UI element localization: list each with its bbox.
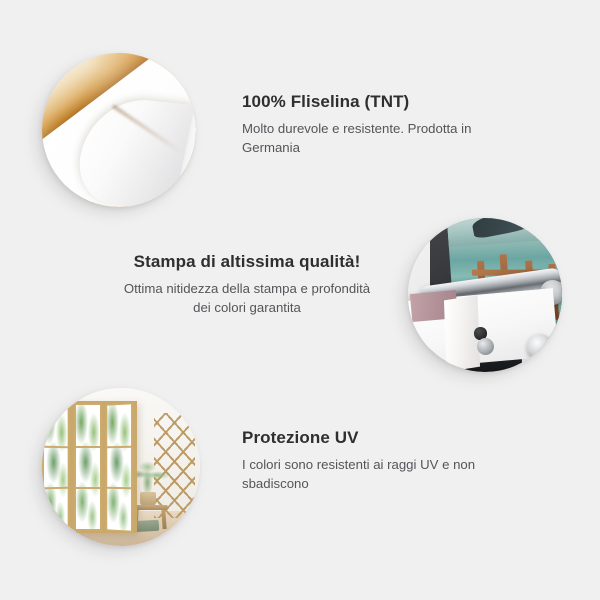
feature-text-fliselina: 100% Fliselina (TNT) Molto durevole e re… xyxy=(242,92,532,157)
feature-body-uv: I colori sono resistenti ai raggi UV e n… xyxy=(242,456,532,493)
feature-text-uv: Protezione UV I colori sono resistenti a… xyxy=(242,428,532,493)
tropical-room-scene xyxy=(42,388,200,546)
feature-image-uv xyxy=(42,388,200,546)
feature-image-stampa xyxy=(408,218,562,372)
screen-panel xyxy=(74,403,102,532)
screen-panel xyxy=(105,402,133,532)
folding-screen xyxy=(42,401,137,534)
peeling-wallpaper-scene xyxy=(42,53,196,207)
feature-highlights-panel: 100% Fliselina (TNT) Molto durevole e re… xyxy=(0,0,600,600)
feature-text-stampa: Stampa di altissima qualità! Ottima niti… xyxy=(118,252,376,317)
printing-press-scene xyxy=(408,218,562,372)
feature-heading-stampa: Stampa di altissima qualità! xyxy=(118,252,376,272)
feature-image-fliselina xyxy=(42,53,196,207)
feature-body-stampa: Ottima nitidezza della stampa e profondi… xyxy=(118,280,376,317)
feature-heading-uv: Protezione UV xyxy=(242,428,532,448)
press-lower-roller xyxy=(527,334,553,360)
screen-panel xyxy=(42,402,70,533)
feature-body-fliselina: Molto durevole e resistente. Prodotta in… xyxy=(242,120,532,157)
feature-heading-fliselina: 100% Fliselina (TNT) xyxy=(242,92,532,112)
